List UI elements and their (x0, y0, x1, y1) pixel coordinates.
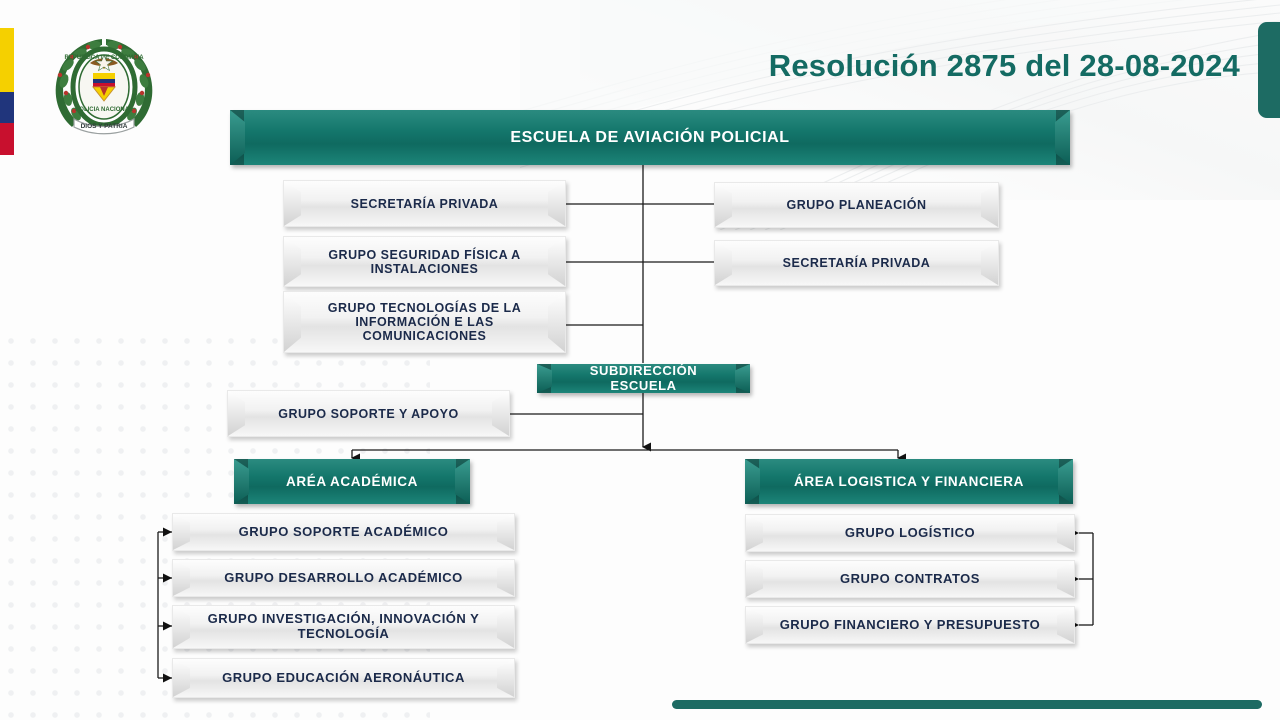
bottom-accent-bar (672, 700, 1262, 709)
svg-text:DIOS Y PATRIA: DIOS Y PATRIA (81, 123, 128, 130)
node-label: SUBDIRECCIÓN ESCUELA (537, 364, 750, 393)
node-label: ÁREA LOGISTICA Y FINANCIERA (768, 474, 1050, 489)
node-label: GRUPO DESARROLLO ACADÉMICO (198, 571, 489, 586)
node-label: GRUPO LOGÍSTICO (819, 526, 1001, 541)
svg-text:POLICIA NACIONAL: POLICIA NACIONAL (75, 107, 133, 113)
node-grupo-planeacion[interactable]: GRUPO PLANEACIÓN (714, 182, 999, 228)
node-secretaria-privada-right[interactable]: SECRETARÍA PRIVADA (714, 240, 999, 286)
node-label: GRUPO FINANCIERO Y PRESUPUESTO (754, 618, 1067, 633)
page-title: Resolución 2875 del 28-08-2024 (769, 48, 1240, 84)
node-escuela-de-aviacion-policial[interactable]: ESCUELA DE AVIACIÓN POLICIAL (230, 110, 1070, 165)
background-wash (580, 0, 1280, 200)
node-grupo-soporte-y-apoyo[interactable]: GRUPO SOPORTE Y APOYO (227, 390, 510, 437)
node-grupo-contratos[interactable]: GRUPO CONTRATOS (745, 560, 1075, 598)
node-label: GRUPO PLANEACIÓN (761, 198, 953, 212)
node-label: GRUPO SOPORTE ACADÉMICO (213, 525, 475, 540)
node-label: GRUPO SEGURIDAD FÍSICA A INSTALACIONES (284, 248, 565, 276)
policia-nacional-colombia-emblem: REPUBLICA DE COLOMBIA POLICIA NACIONAL D… (48, 33, 160, 151)
node-grupo-seguridad-fisica[interactable]: GRUPO SEGURIDAD FÍSICA A INSTALACIONES (283, 236, 566, 287)
node-area-logistica-y-financiera[interactable]: ÁREA LOGISTICA Y FINANCIERA (745, 459, 1073, 504)
slide-canvas: REPUBLICA DE COLOMBIA POLICIA NACIONAL D… (0, 0, 1280, 720)
node-label: ESCUELA DE AVIACIÓN POLICIAL (484, 129, 815, 147)
node-secretaria-privada-left[interactable]: SECRETARÍA PRIVADA (283, 180, 566, 227)
node-label: SECRETARÍA PRIVADA (325, 197, 525, 211)
right-edge-accent-tab (1258, 22, 1280, 118)
node-label: GRUPO SOPORTE Y APOYO (252, 407, 484, 421)
node-subdireccion-escuela[interactable]: SUBDIRECCIÓN ESCUELA (537, 364, 750, 393)
node-grupo-soporte-academico[interactable]: GRUPO SOPORTE ACADÉMICO (172, 513, 515, 551)
node-grupo-tecnologias-informacion[interactable]: GRUPO TECNOLOGÍAS DE LA INFORMACIÓN E LA… (283, 291, 566, 353)
colombia-flag-strip (0, 28, 14, 155)
node-label: GRUPO EDUCACIÓN AERONÁUTICA (196, 671, 491, 686)
node-grupo-educacion-aeronautica[interactable]: GRUPO EDUCACIÓN AERONÁUTICA (172, 658, 515, 698)
node-grupo-desarrollo-academico[interactable]: GRUPO DESARROLLO ACADÉMICO (172, 559, 515, 597)
node-label: GRUPO CONTRATOS (814, 572, 1006, 587)
node-area-academica[interactable]: ARÉA ACADÉMICA (234, 459, 470, 504)
node-grupo-logistico[interactable]: GRUPO LOGÍSTICO (745, 514, 1075, 552)
node-label: GRUPO TECNOLOGÍAS DE LA INFORMACIÓN E LA… (284, 301, 565, 343)
node-label: ARÉA ACADÉMICA (260, 474, 444, 489)
node-grupo-financiero-y-presupuesto[interactable]: GRUPO FINANCIERO Y PRESUPUESTO (745, 606, 1075, 644)
node-label: SECRETARÍA PRIVADA (757, 256, 957, 270)
node-grupo-investigacion-innovacion-tecnologia[interactable]: GRUPO INVESTIGACIÓN, INNOVACIÓN Y TECNOL… (172, 605, 515, 649)
node-label: GRUPO INVESTIGACIÓN, INNOVACIÓN Y TECNOL… (173, 612, 514, 641)
